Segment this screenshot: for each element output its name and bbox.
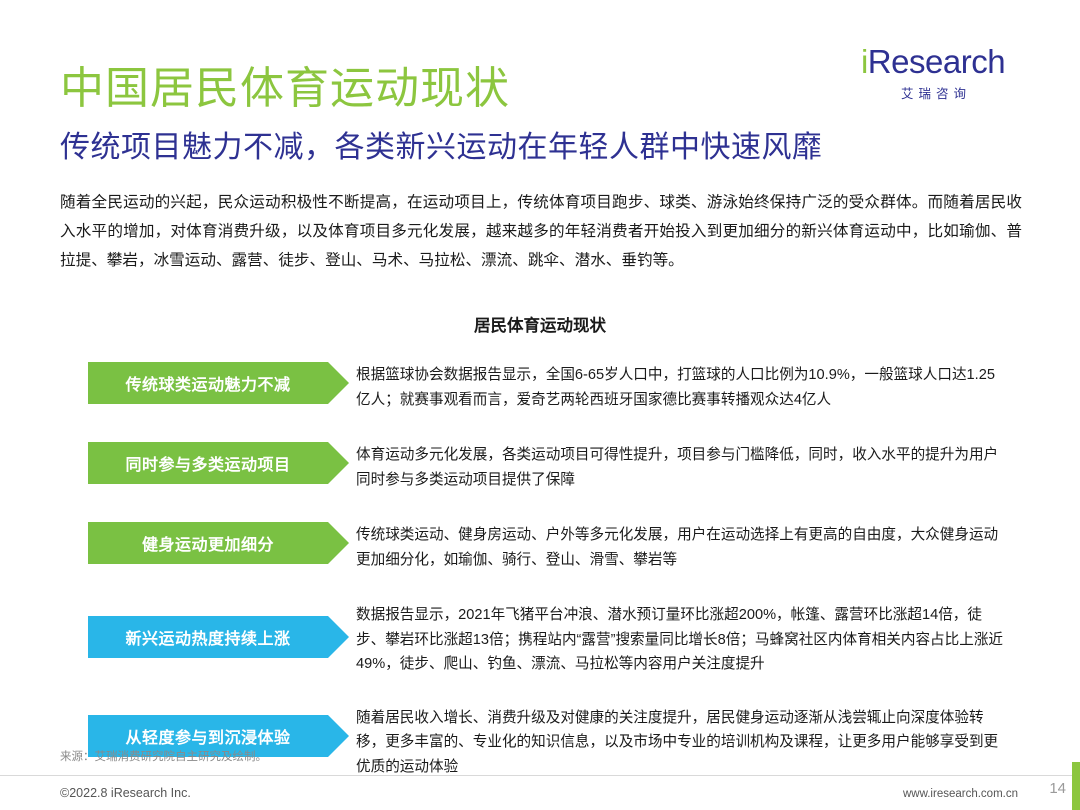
page-subtitle: 传统项目魅力不减，各类新兴运动在年轻人群中快速风靡 bbox=[60, 122, 823, 166]
row-tag-label: 新兴运动热度持续上涨 bbox=[125, 625, 290, 649]
footer-divider bbox=[0, 775, 1080, 776]
row-tag-label: 传统球类运动魅力不减 bbox=[125, 371, 290, 395]
section-heading: 居民体育运动现状 bbox=[0, 312, 1080, 336]
row-description: 数据报告显示，2021年飞猪平台冲浪、潜水预订量环比涨超200%，帐篷、露营环比… bbox=[356, 602, 1008, 677]
row-description: 体育运动多元化发展，各类运动项目可得性提升，项目参与门槛降低，同时，收入水平的提… bbox=[356, 442, 1008, 492]
logo-letter-r: R bbox=[868, 43, 891, 80]
iresearch-logo: iResearch 艾瑞咨询 bbox=[838, 44, 1028, 102]
content-rows: 传统球类运动魅力不减 根据篮球协会数据报告显示，全国6-65岁人口中，打篮球的人… bbox=[88, 362, 1008, 779]
list-item: 同时参与多类运动项目 体育运动多元化发展，各类运动项目可得性提升，项目参与门槛降… bbox=[88, 442, 1008, 492]
intro-paragraph: 随着全民运动的兴起，民众运动积极性不断提高，在运动项目上，传统体育项目跑步、球类… bbox=[60, 188, 1022, 275]
footer-website: www.iresearch.com.cn bbox=[903, 788, 1018, 800]
logo-subtitle: 艾瑞咨询 bbox=[838, 83, 1028, 102]
logo-letter-i: i bbox=[861, 43, 868, 80]
row-description: 传统球类运动、健身房运动、户外等多元化发展，用户在运动选择上有更高的自由度，大众… bbox=[356, 522, 1008, 572]
page-number: 14 bbox=[1049, 780, 1066, 797]
logo-wordmark: iResearch bbox=[838, 44, 1028, 80]
page-title: 中国居民体育运动现状 bbox=[60, 52, 510, 116]
list-item: 新兴运动热度持续上涨 数据报告显示，2021年飞猪平台冲浪、潜水预订量环比涨超2… bbox=[88, 602, 1008, 677]
slide-page: iResearch 艾瑞咨询 中国居民体育运动现状 传统项目魅力不减，各类新兴运… bbox=[0, 0, 1080, 810]
list-item: 健身运动更加细分 传统球类运动、健身房运动、户外等多元化发展，用户在运动选择上有… bbox=[88, 522, 1008, 572]
row-tag: 传统球类运动魅力不减 bbox=[88, 362, 328, 404]
row-tag: 同时参与多类运动项目 bbox=[88, 442, 328, 484]
row-tag-label: 从轻度参与到沉浸体验 bbox=[125, 724, 290, 748]
row-description: 根据篮球协会数据报告显示，全国6-65岁人口中，打篮球的人口比例为10.9%，一… bbox=[356, 362, 1008, 412]
row-tag: 新兴运动热度持续上涨 bbox=[88, 616, 328, 658]
list-item: 从轻度参与到沉浸体验 随着居民收入增长、消费升级及对健康的关注度提升，居民健身运… bbox=[88, 705, 1008, 780]
row-tag-label: 同时参与多类运动项目 bbox=[125, 451, 290, 475]
row-tag-wrap: 传统球类运动魅力不减 bbox=[88, 362, 356, 404]
row-tag-label: 健身运动更加细分 bbox=[142, 531, 274, 555]
row-tag-wrap: 健身运动更加细分 bbox=[88, 522, 356, 564]
row-tag-wrap: 同时参与多类运动项目 bbox=[88, 442, 356, 484]
list-item: 传统球类运动魅力不减 根据篮球协会数据报告显示，全国6-65岁人口中，打篮球的人… bbox=[88, 362, 1008, 412]
logo-text-research: esearch bbox=[891, 43, 1005, 80]
row-tag-wrap: 新兴运动热度持续上涨 bbox=[88, 602, 356, 658]
footer-copyright: ©2022.8 iResearch Inc. bbox=[60, 786, 191, 800]
row-description: 随着居民收入增长、消费升级及对健康的关注度提升，居民健身运动逐渐从浅尝辄止向深度… bbox=[356, 705, 1008, 780]
row-tag: 健身运动更加细分 bbox=[88, 522, 328, 564]
source-note: 来源：艾瑞消费研究院自主研究及绘制。 bbox=[60, 748, 267, 764]
page-accent-bar bbox=[1072, 762, 1080, 810]
